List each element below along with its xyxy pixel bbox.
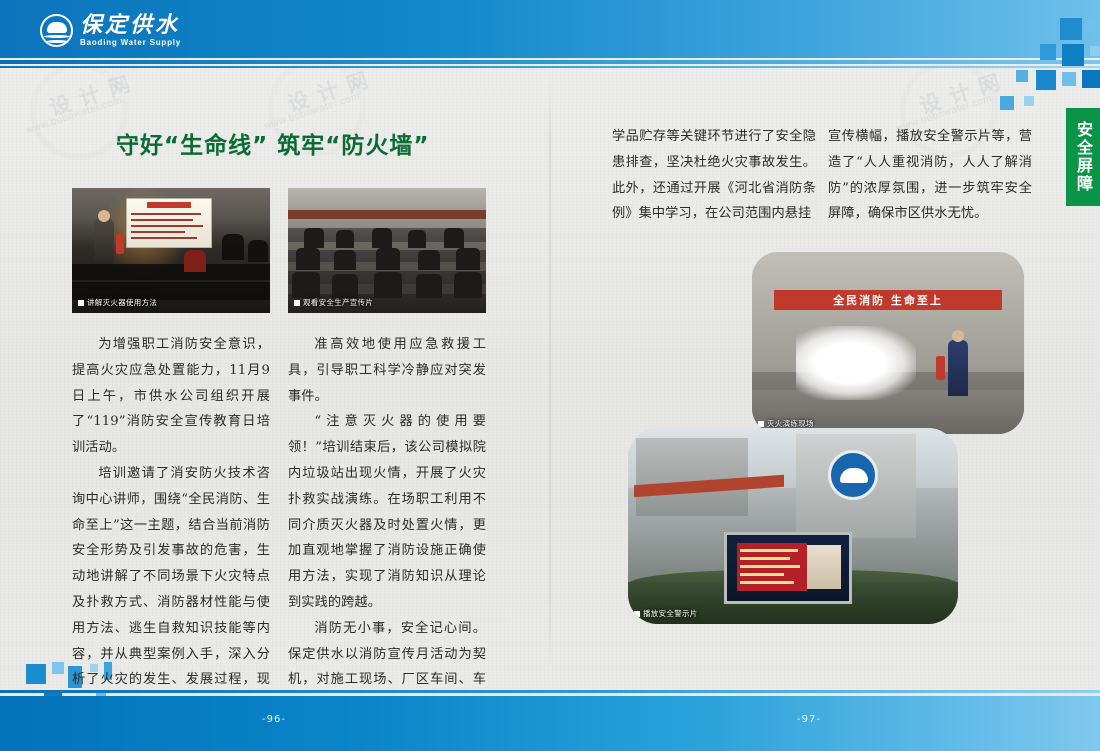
photo-caption-text: 播放安全警示片 (643, 608, 698, 619)
paragraph: “注意灭火器的使用要领！”培训结束后，该公司模拟院内垃圾站出现火情，开展了火灾扑… (288, 409, 486, 615)
article-title: 守好“生命线” 筑牢“防火墙” (116, 126, 429, 160)
company-emblem-icon (828, 450, 878, 500)
page-footer (0, 696, 1100, 751)
page-spine (549, 70, 551, 670)
photo-banner-text: 全民消防 生命至上 (774, 290, 1002, 310)
photo-caption: 播放安全警示片 (634, 608, 698, 619)
footer-rule (0, 690, 1100, 693)
caption-bullet-icon (758, 421, 764, 427)
text-column-right-2: 宣传横幅，播放安全警示片等，营造了“人人重视消防，人人了解消防”的浓厚氛围，进一… (828, 124, 1032, 227)
photo-fire-drill-scene: 全民消防 生命至上 灭火演练现场 (752, 252, 1024, 434)
water-drop-circle-logo-icon (40, 14, 73, 47)
section-tab-safety-barrier[interactable]: 安全屏障 (1066, 108, 1100, 206)
text-column-right-1: 学品贮存等关键环节进行了安全隐患排查，坚决杜绝火灾事故发生。此外，还通过开展《河… (612, 124, 816, 227)
paragraph: 宣传横幅，播放安全警示片等，营造了“人人重视消防，人人了解消防”的浓厚氛围，进一… (828, 124, 1032, 227)
text-column-left-2: 准高效地使用应急救援工具，引导职工科学冷静应对突发事件。 “注意灭火器的使用要领… (288, 332, 486, 745)
header-rule-secondary (0, 66, 1100, 68)
caption-bullet-icon (634, 611, 640, 617)
brand-name-cn: 保定供水 (80, 14, 181, 36)
photo-caption: 观看安全生产宣传片 (294, 297, 373, 308)
text-column-left-1: 为增强职工消防安全意识，提高火灾应急处置能力，11月9日上午，市供水公司组织开展… (72, 332, 270, 719)
section-tab-label: 安全屏障 (1071, 121, 1095, 193)
caption-bullet-icon (294, 300, 300, 306)
photo-caption-text: 讲解灭火器使用方法 (87, 297, 157, 308)
photo-caption-text: 观看安全生产宣传片 (303, 297, 373, 308)
brand-name-en: Baoding Water Supply (80, 39, 181, 47)
photo-caption: 讲解灭火器使用方法 (78, 297, 157, 308)
brand-logo: 保定供水 Baoding Water Supply (40, 14, 181, 47)
photo-outdoor-led-screen: 播放安全警示片 (628, 428, 958, 624)
paragraph: 为增强职工消防安全意识，提高火灾应急处置能力，11月9日上午，市供水公司组织开展… (72, 332, 270, 461)
paragraph: 学品贮存等关键环节进行了安全隐患排查，坚决杜绝火灾事故发生。此外，还通过开展《河… (612, 124, 816, 227)
page-number-right: -97- (797, 714, 821, 725)
photo-safety-video-viewing: 观看安全生产宣传片 (288, 188, 486, 313)
caption-bullet-icon (78, 300, 84, 306)
paragraph: 培训邀请了消安防火技术咨询中心讲师，围绕“全民消防、生命至上”这一主题，结合当前… (72, 461, 270, 719)
header-rule-primary (0, 60, 1100, 64)
photo-extinguisher-demo: 讲解灭火器使用方法 (72, 188, 270, 313)
paragraph: 准高效地使用应急救援工具，引导职工科学冷静应对突发事件。 (288, 332, 486, 409)
page-number-left: -96- (262, 714, 286, 725)
